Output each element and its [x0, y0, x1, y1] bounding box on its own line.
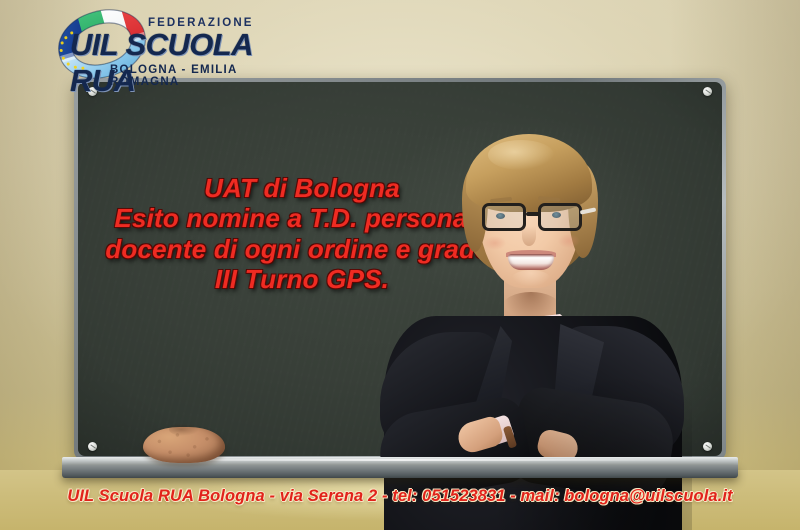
logo-name: UIL SCUOLA RUA: [70, 27, 304, 99]
lens-right: [538, 203, 582, 231]
board-screw-bottom-right: [703, 442, 712, 451]
screw-slot-icon: [90, 444, 96, 449]
footer-contact-line: UIL Scuola RUA Bologna - via Serena 2 - …: [0, 487, 800, 506]
lens-left: [482, 203, 526, 231]
chin-highlight: [512, 270, 550, 286]
screw-slot-icon: [705, 89, 711, 94]
board-eraser-sponge: [143, 427, 225, 463]
poster-canvas: UAT di Bologna Esito nomine a T.D. perso…: [0, 0, 800, 530]
sponge-texture: [143, 427, 225, 463]
hair-highlight: [488, 140, 554, 170]
cheek-right: [558, 234, 580, 248]
nose: [522, 226, 536, 246]
board-screw-bottom-left: [88, 442, 97, 451]
cheek-left: [484, 236, 506, 250]
uil-scuola-rua-logo[interactable]: FEDERAZIONE UIL SCUOLA RUA BOLOGNA - EMI…: [42, 4, 304, 86]
screw-slot-icon: [705, 444, 711, 449]
logo-region-label: BOLOGNA - EMILIA ROMAGNA: [110, 64, 304, 88]
glasses-bridge: [526, 212, 540, 216]
smiling-mouth: [508, 254, 554, 270]
chalk-tray-front: [62, 465, 738, 478]
board-screw-top-right: [703, 87, 712, 96]
